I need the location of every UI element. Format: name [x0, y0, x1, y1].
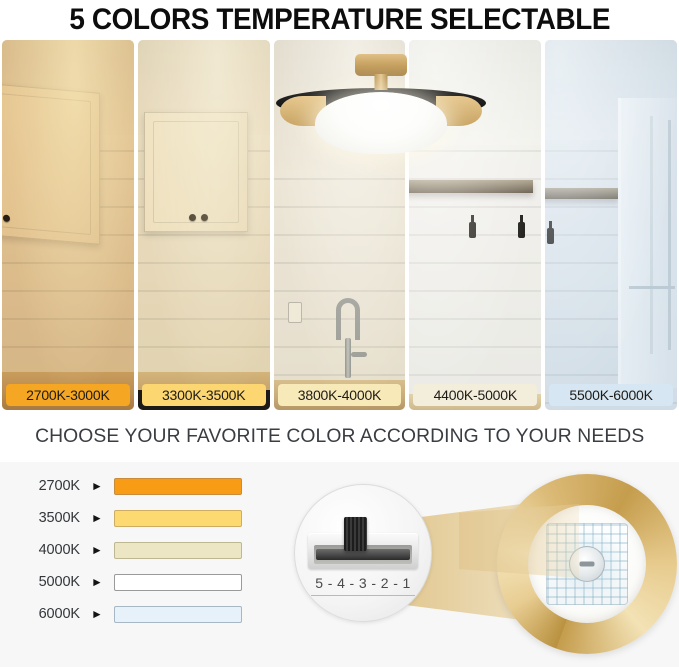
page-title: 5 COLORS TEMPERATURE SELECTABLE: [69, 3, 610, 37]
color-option-label: 6000K: [18, 606, 80, 622]
switch-callout-illustration: 5 - 4 - 3 - 2 - 1: [286, 470, 679, 660]
strip-caption-5: 5500K-6000K: [549, 384, 673, 406]
room-photo-cool-window: [545, 40, 677, 410]
room-photo-sink-area: [274, 40, 406, 410]
strip-caption-2: 3300K-3500K: [142, 384, 266, 406]
color-option-row[interactable]: 5000K ►: [18, 566, 258, 598]
room-photo-warm-kitchen: [2, 40, 134, 410]
strip-caption-1: 2700K-3000K: [6, 384, 130, 406]
arrow-right-icon: ►: [80, 576, 114, 588]
strip-caption-3: 3800K-4000K: [278, 384, 402, 406]
color-swatch[interactable]: [114, 574, 242, 591]
color-option-label: 2700K: [18, 478, 80, 494]
temperature-strip-1[interactable]: 2700K-3000K: [2, 40, 134, 410]
temperature-strip-4[interactable]: 4400K-5000K: [409, 40, 541, 410]
temperature-strip-2[interactable]: 3300K-3500K: [138, 40, 270, 410]
color-option-label: 3500K: [18, 510, 80, 526]
strip-caption-4: 4400K-5000K: [413, 384, 537, 406]
color-option-row[interactable]: 2700K ►: [18, 470, 258, 502]
temperature-strip-gallery: 2700K-3000K 3300K-3500K: [0, 40, 679, 410]
color-swatch[interactable]: [114, 606, 242, 623]
room-photo-cream-kitchen: [138, 40, 270, 410]
color-swatch[interactable]: [114, 510, 242, 527]
color-option-label: 4000K: [18, 542, 80, 558]
product-photo-gold-lamp: [489, 468, 679, 664]
switch-positions-label: 5 - 4 - 3 - 2 - 1: [309, 575, 417, 591]
color-selection-panel: 2700K ► 3500K ► 4000K ► 5000K ► 6000K ►: [0, 462, 679, 667]
arrow-right-icon: ►: [80, 608, 114, 620]
color-option-row[interactable]: 6000K ►: [18, 598, 258, 630]
subheader-title: CHOOSE YOUR FAVORITE COLOR ACCORDING TO …: [35, 425, 644, 448]
subheader: CHOOSE YOUR FAVORITE COLOR ACCORDING TO …: [0, 410, 679, 462]
temperature-strip-3[interactable]: 3800K-4000K: [274, 40, 406, 410]
switch-zoom-circle: 5 - 4 - 3 - 2 - 1: [294, 484, 432, 622]
temperature-strip-5[interactable]: 5500K-6000K: [545, 40, 677, 410]
switch-slider-knob[interactable]: [344, 517, 367, 551]
color-option-list: 2700K ► 3500K ► 4000K ► 5000K ► 6000K ►: [18, 470, 258, 630]
room-photo-shelf-hooks: [409, 40, 541, 410]
beam-overlay: [459, 504, 579, 578]
arrow-right-icon: ►: [80, 544, 114, 556]
arrow-right-icon: ►: [80, 512, 114, 524]
color-swatch[interactable]: [114, 542, 242, 559]
switch-underline: [311, 595, 415, 596]
color-option-label: 5000K: [18, 574, 80, 590]
arrow-right-icon: ►: [80, 480, 114, 492]
page-header: 5 COLORS TEMPERATURE SELECTABLE: [0, 0, 679, 40]
color-option-row[interactable]: 4000K ►: [18, 534, 258, 566]
color-swatch[interactable]: [114, 478, 242, 495]
color-option-row[interactable]: 3500K ►: [18, 502, 258, 534]
